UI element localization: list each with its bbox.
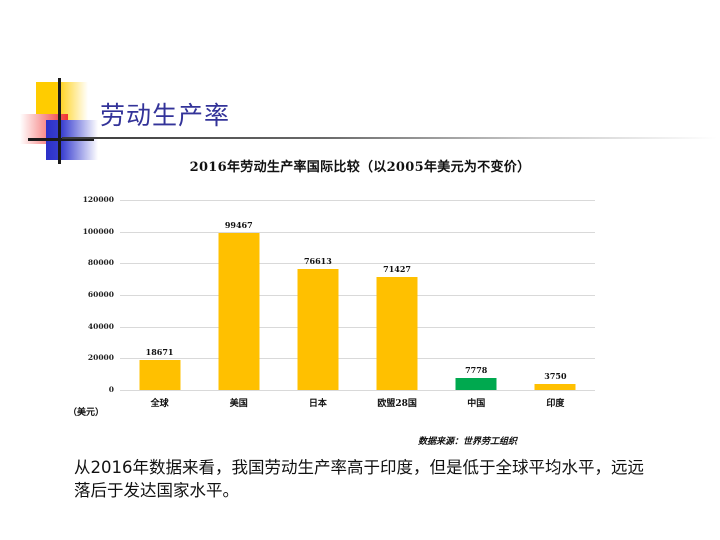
y-axis-tick-label: 120000: [66, 195, 114, 204]
bar-group: 7778中国: [437, 200, 516, 390]
bar-欧盟28国[interactable]: [377, 277, 418, 390]
data-source-note: 数据来源：世界劳工组织: [418, 434, 517, 447]
x-axis-category-label: 全球: [151, 396, 169, 409]
x-axis-category-label: 欧盟28国: [377, 396, 417, 409]
bar-value-label: 71427: [383, 264, 411, 274]
bar-印度[interactable]: [535, 384, 576, 390]
bar-value-label: 7778: [465, 365, 487, 375]
x-axis-category-label: 美国: [230, 396, 248, 409]
y-axis-tick-label: 20000: [66, 353, 114, 362]
bar-中国[interactable]: [456, 378, 497, 390]
bar-group: 3750印度: [516, 200, 595, 390]
bar-group: 18671全球: [120, 200, 199, 390]
plot-area: 18671全球99467美国76613日本71427欧盟28国7778中国375…: [120, 200, 595, 390]
x-axis-category-label: 中国: [467, 396, 485, 409]
y-axis-tick-label: 60000: [66, 290, 114, 299]
bar-全球[interactable]: [139, 360, 180, 390]
bar-日本[interactable]: [297, 269, 338, 390]
bar-value-label: 99467: [225, 220, 253, 230]
chart-title: 2016年劳动生产率国际比较（以2005年美元为不变价）: [0, 156, 720, 175]
y-axis-tick-label: 100000: [66, 227, 114, 236]
bar-chart: 2016年劳动生产率国际比较（以2005年美元为不变价） 18671全球9946…: [0, 152, 720, 432]
bar-value-label: 18671: [146, 347, 174, 357]
y-axis-tick-label: 40000: [66, 322, 114, 331]
y-axis-unit-label: （美元）: [68, 405, 104, 418]
bar-group: 76613日本: [278, 200, 357, 390]
bar-value-label: 76613: [304, 256, 332, 266]
gridline: [120, 390, 595, 391]
slide: 劳动生产率 2016年劳动生产率国际比较（以2005年美元为不变价） 18671…: [0, 0, 720, 540]
x-axis-category-label: 印度: [546, 396, 564, 409]
bar-美国[interactable]: [218, 233, 259, 390]
page-title: 劳动生产率: [100, 96, 230, 132]
y-axis-tick-label: 0: [66, 385, 114, 394]
body-paragraph: 从2016年数据来看，我国劳动生产率高于印度，但是低于全球平均水平，远远落后于发…: [74, 456, 654, 503]
y-axis-tick-label: 80000: [66, 258, 114, 267]
bar-group: 71427欧盟28国: [358, 200, 437, 390]
x-axis-category-label: 日本: [309, 396, 327, 409]
title-divider: [62, 137, 717, 139]
bar-group: 99467美国: [199, 200, 278, 390]
bar-value-label: 3750: [544, 371, 566, 381]
